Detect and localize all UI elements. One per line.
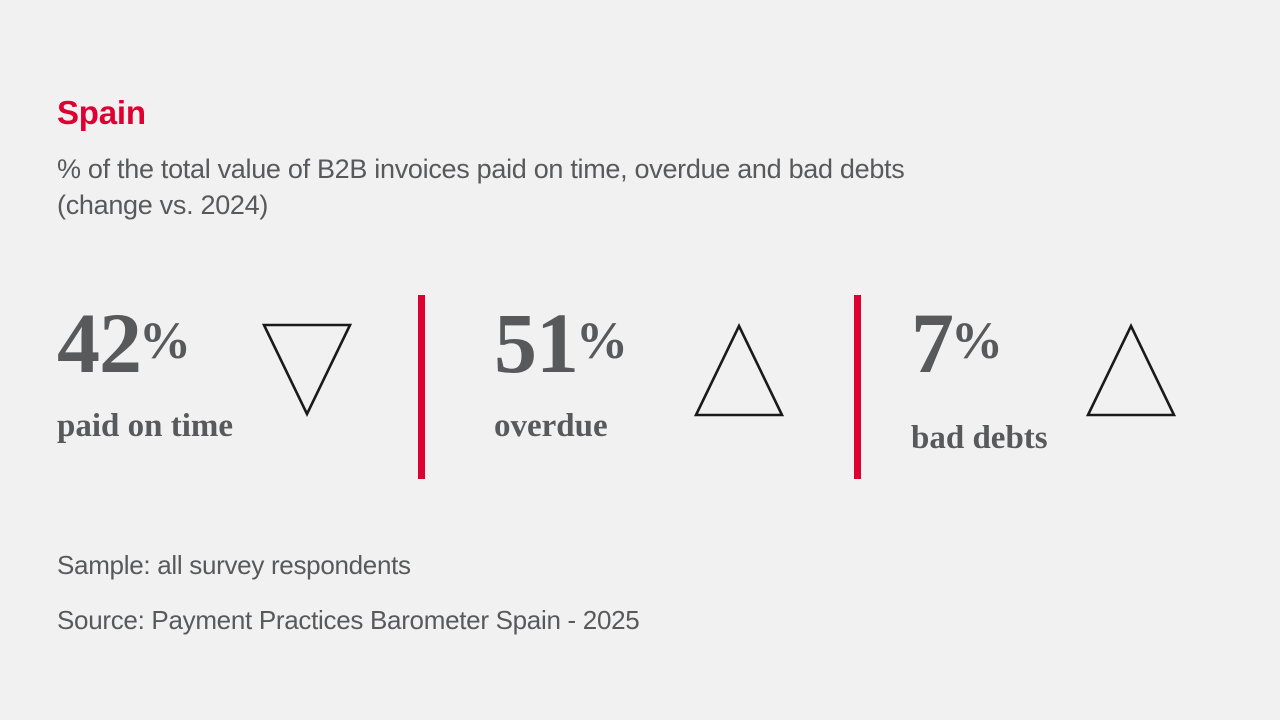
page-subtitle: % of the total value of B2B invoices pai…	[57, 152, 1217, 223]
percent-sign: %	[139, 313, 191, 370]
divider-bar-1	[418, 295, 425, 479]
percent-sign: %	[576, 313, 628, 370]
footer-sample: Sample: all survey respondents	[57, 538, 639, 593]
triangle-up-icon	[693, 322, 785, 423]
footer: Sample: all survey respondents Source: P…	[57, 538, 639, 647]
subtitle-line-2: (change vs. 2024)	[57, 188, 1217, 224]
infographic-canvas: Spain % of the total value of B2B invoic…	[0, 0, 1280, 720]
percent-sign: %	[951, 313, 1003, 370]
subtitle-line-1: % of the total value of B2B invoices pai…	[57, 152, 1217, 188]
stat-label: paid on time	[57, 410, 233, 443]
stat-value-paid-on-time: 42%	[57, 300, 193, 386]
page-title: Spain	[57, 96, 146, 129]
stat-number: 51	[494, 295, 578, 391]
stat-number: 7	[911, 295, 953, 391]
footer-source: Source: Payment Practices Barometer Spai…	[57, 593, 639, 648]
triangle-up-icon	[1085, 322, 1177, 423]
stat-label: bad debts	[911, 422, 1048, 455]
divider-bar-2	[854, 295, 861, 479]
stat-label: overdue	[494, 410, 608, 443]
triangle-down-icon	[261, 322, 353, 423]
stat-number: 42	[57, 295, 141, 391]
stat-value-bad-debts: 7%	[911, 300, 1005, 386]
stat-value-overdue: 51%	[494, 300, 630, 386]
